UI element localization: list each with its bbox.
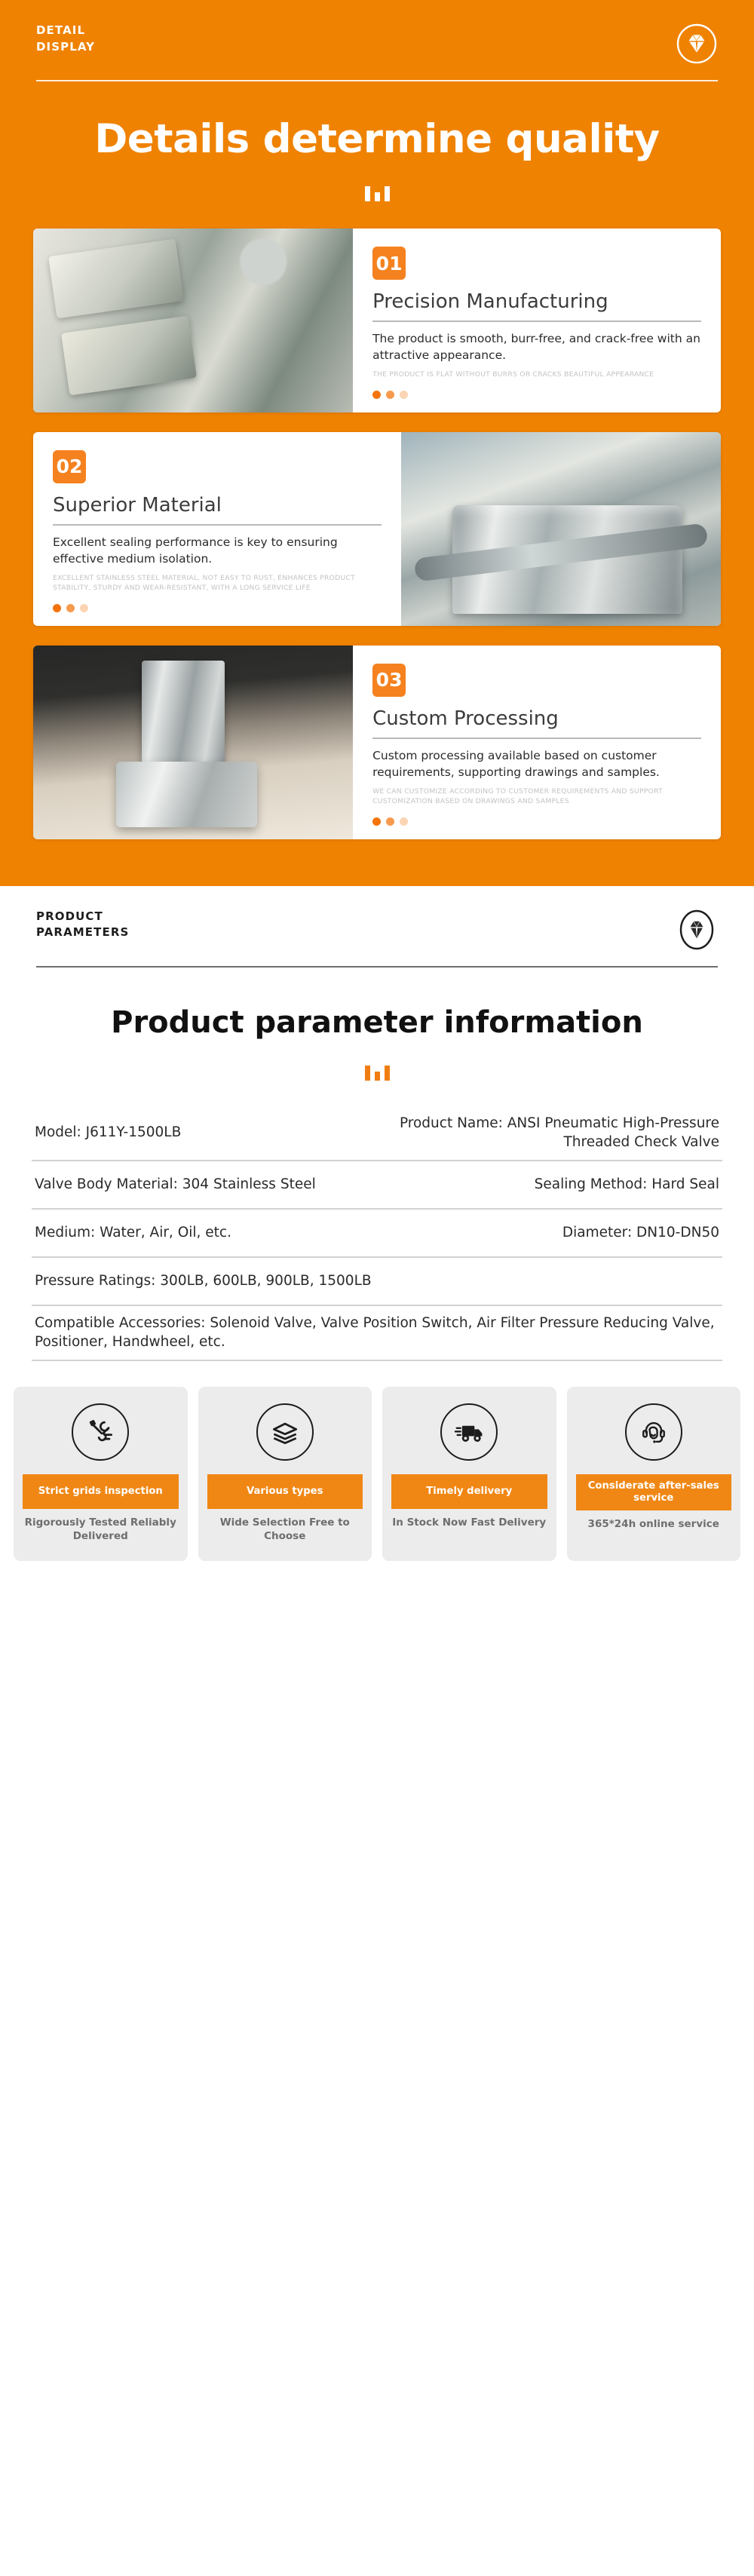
- feature-dots-01: [372, 380, 701, 399]
- feature-desc-03: Custom processing available based on cus…: [372, 747, 701, 780]
- service-card-inspection: Strict grids inspection Rigorously Teste…: [14, 1387, 188, 1561]
- feature-card-03: 03 Custom Processing Custom processing a…: [33, 646, 721, 839]
- table-row: Valve Body Material: 304 Stainless Steel…: [32, 1161, 722, 1210]
- feature-card-list: 01 Precision Manufacturing The product i…: [0, 201, 754, 839]
- service-badge: Considerate after-sales service: [576, 1474, 732, 1510]
- feature-number-badge-01: 01: [372, 247, 406, 280]
- param-cell: Medium: Water, Air, Oil, etc.: [35, 1224, 377, 1243]
- feature-title-03: Custom Processing: [372, 707, 701, 739]
- param-cell: Valve Body Material: 304 Stainless Steel: [35, 1176, 377, 1194]
- table-row: Model: J611Y-1500LB Product Name: ANSI P…: [32, 1106, 722, 1161]
- service-badge: Timely delivery: [391, 1474, 547, 1509]
- detail-section-header: DETAIL DISPLAY: [0, 0, 754, 80]
- feature-body-02: 02 Superior Material Excellent sealing p…: [33, 432, 401, 626]
- param-section-title: Product parameter information: [0, 968, 754, 1040]
- table-row: Pressure Ratings: 300LB, 600LB, 900LB, 1…: [32, 1258, 722, 1306]
- param-eyebrow-line1: PRODUCT: [36, 909, 129, 925]
- page-title: Details determine quality: [0, 81, 754, 161]
- param-title-decoration-mark: [0, 1060, 754, 1081]
- headset-support-icon: [625, 1403, 682, 1461]
- service-badge: Strict grids inspection: [23, 1474, 179, 1509]
- service-card-support: Considerate after-sales service 365*24h …: [567, 1387, 741, 1561]
- service-card-list: Strict grids inspection Rigorously Teste…: [0, 1361, 754, 1584]
- param-cell: Sealing Method: Hard Seal: [377, 1176, 719, 1194]
- parameter-table: Model: J611Y-1500LB Product Name: ANSI P…: [0, 1081, 754, 1361]
- param-cell: Diameter: DN10-DN50: [377, 1224, 719, 1243]
- service-caption: Rigorously Tested Reliably Delivered: [23, 1516, 179, 1543]
- feature-dots-02: [53, 593, 382, 612]
- feature-photo-02: [401, 432, 721, 626]
- service-caption: In Stock Now Fast Delivery: [392, 1516, 546, 1530]
- table-row: Compatible Accessories: Solenoid Valve, …: [32, 1306, 722, 1361]
- feature-title-02: Superior Material: [53, 494, 382, 526]
- detail-eyebrow: DETAIL DISPLAY: [36, 23, 95, 56]
- detail-display-section: DETAIL DISPLAY Details dete: [0, 0, 754, 886]
- service-badge: Various types: [207, 1474, 363, 1509]
- feature-number-badge-02: 02: [53, 450, 86, 483]
- feature-dots-03: [372, 807, 701, 826]
- param-cell: Model: J611Y-1500LB: [35, 1124, 377, 1142]
- delivery-truck-icon: [440, 1403, 498, 1461]
- layers-stack-icon: [256, 1403, 314, 1461]
- param-cell: Pressure Ratings: 300LB, 600LB, 900LB, 1…: [35, 1272, 719, 1291]
- feature-body-03: 03 Custom Processing Custom processing a…: [353, 646, 721, 839]
- gem-icon: [676, 909, 718, 951]
- param-section-header: PRODUCT PARAMETERS: [0, 886, 754, 966]
- gem-icon: [676, 23, 718, 65]
- table-row: Medium: Water, Air, Oil, etc. Diameter: …: [32, 1210, 722, 1258]
- feature-desc-01: The product is smooth, burr-free, and cr…: [372, 330, 701, 363]
- service-caption: Wide Selection Free to Choose: [207, 1516, 363, 1543]
- feature-card-01: 01 Precision Manufacturing The product i…: [33, 228, 721, 412]
- service-card-variety: Various types Wide Selection Free to Cho…: [198, 1387, 372, 1561]
- feature-photo-03: [33, 646, 353, 839]
- product-parameters-section: PRODUCT PARAMETERS Product parameter inf: [0, 886, 754, 1584]
- param-cell: Product Name: ANSI Pneumatic High-Pressu…: [377, 1115, 719, 1152]
- feature-subtext-02: EXCELLENT STAINLESS STEEL MATERIAL, NOT …: [53, 573, 382, 593]
- feature-photo-01: [33, 228, 353, 412]
- param-cell: Compatible Accessories: Solenoid Valve, …: [35, 1314, 719, 1351]
- feature-subtext-01: THE PRODUCT IS FLAT WITHOUT BURRS OR CRA…: [372, 370, 701, 379]
- feature-body-01: 01 Precision Manufacturing The product i…: [353, 228, 721, 412]
- service-caption: 365*24h online service: [588, 1518, 719, 1532]
- param-eyebrow-line2: PARAMETERS: [36, 925, 129, 941]
- feature-number-badge-03: 03: [372, 664, 406, 697]
- service-card-delivery: Timely delivery In Stock Now Fast Delive…: [382, 1387, 556, 1561]
- tools-wrench-screwdriver-icon: [72, 1403, 129, 1461]
- feature-title-01: Precision Manufacturing: [372, 290, 701, 322]
- feature-card-02: 02 Superior Material Excellent sealing p…: [33, 432, 721, 626]
- feature-desc-02: Excellent sealing performance is key to …: [53, 534, 382, 567]
- detail-eyebrow-line2: DISPLAY: [36, 39, 95, 56]
- title-decoration-mark: [0, 180, 754, 201]
- feature-subtext-03: WE CAN CUSTOMIZE ACCORDING TO CUSTOMER R…: [372, 787, 701, 807]
- detail-eyebrow-line1: DETAIL: [36, 23, 95, 39]
- param-eyebrow: PRODUCT PARAMETERS: [36, 909, 129, 942]
- product-detail-page: DETAIL DISPLAY Details dete: [0, 0, 754, 1584]
